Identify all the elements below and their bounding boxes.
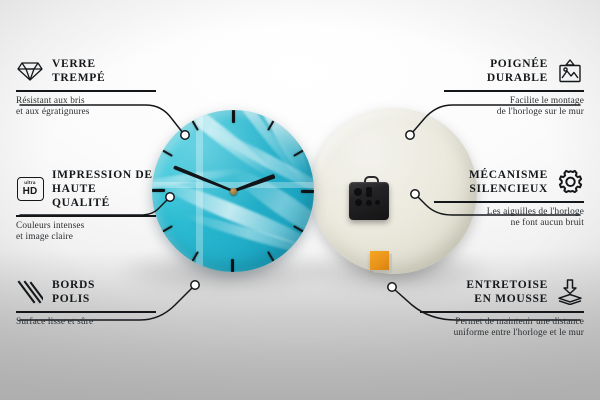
mechanism-dial-3 [366,200,372,206]
callout-header: MÉCANISMESILENCIEUX [434,168,584,196]
callout-header: ENTRETOISEEN MOUSSE [420,278,584,306]
callout-divider [16,215,156,217]
clock-face-disc [152,110,314,272]
callout-subtitle: Couleurs intenseset image claire [16,221,156,244]
mechanism-slot [366,187,372,197]
callout-title: IMPRESSION DEHAUTE QUALITÉ [52,168,156,210]
arrow-onto-layers-icon [556,278,584,306]
callout-subtitle: Permet de maintenir une distanceuniforme… [420,317,584,340]
mechanism-dial-2 [355,199,362,206]
callout-bords-polis: BORDSPOLIS Surface lisse et sûre [16,278,156,328]
callout-title: VERRETREMPÉ [52,57,105,85]
callout-poignee-durable: POIGNÉEDURABLE Facilite le montagede l'h… [444,57,584,119]
callout-title: ENTRETOISEEN MOUSSE [466,278,548,306]
mechanism-dial-1 [354,188,362,196]
callout-divider [434,201,584,203]
hour-tick [152,190,233,192]
callout-divider [16,90,156,92]
diagonal-lines-icon [16,278,44,306]
callout-title: BORDSPOLIS [52,278,95,306]
gear-icon [556,168,584,196]
mechanism-dial-4 [375,200,380,205]
callout-title: MÉCANISMESILENCIEUX [469,168,548,196]
callout-header: BORDSPOLIS [16,278,156,306]
callout-subtitle: Résistant aux briset aux égratignures [16,96,156,119]
foam-spacer [370,251,389,270]
diamond-icon [16,57,44,85]
hour-tick [232,110,234,191]
callout-divider [16,311,156,313]
ultra-hd-icon: ultra HD [16,175,44,203]
hand-center-cap [230,188,237,195]
hanging-frame-icon [556,57,584,85]
callout-divider [420,311,584,313]
callout-impression-haute-qualite: ultra HD IMPRESSION DEHAUTE QUALITÉ Coul… [16,168,156,244]
callout-divider [444,90,584,92]
callout-header: POIGNÉEDURABLE [444,57,584,85]
clock-mechanism [349,182,389,220]
callout-subtitle: Surface lisse et sûre [16,317,156,329]
callout-mecanisme-silencieux: MÉCANISMESILENCIEUX Les aiguilles de l'h… [434,168,584,230]
hour-tick [232,191,234,272]
callout-subtitle: Facilite le montagede l'horloge sur le m… [444,96,584,119]
callout-title: POIGNÉEDURABLE [487,57,548,85]
callout-entretoise-en-mousse: ENTRETOISEEN MOUSSE Permet de maintenir … [420,278,584,340]
callout-header: VERRETREMPÉ [16,57,156,85]
ultra-hd-badge: ultra HD [17,177,44,201]
infographic-canvas: VERRETREMPÉ Résistant aux briset aux égr… [0,0,600,400]
ultra-hd-badge-main: HD [23,187,38,197]
hour-tick [233,190,314,192]
callout-header: ultra HD IMPRESSION DEHAUTE QUALITÉ [16,168,156,210]
callout-subtitle: Les aiguilles de l'horlogene font aucun … [434,207,584,230]
callout-verre-trempe: VERRETREMPÉ Résistant aux briset aux égr… [16,57,156,119]
